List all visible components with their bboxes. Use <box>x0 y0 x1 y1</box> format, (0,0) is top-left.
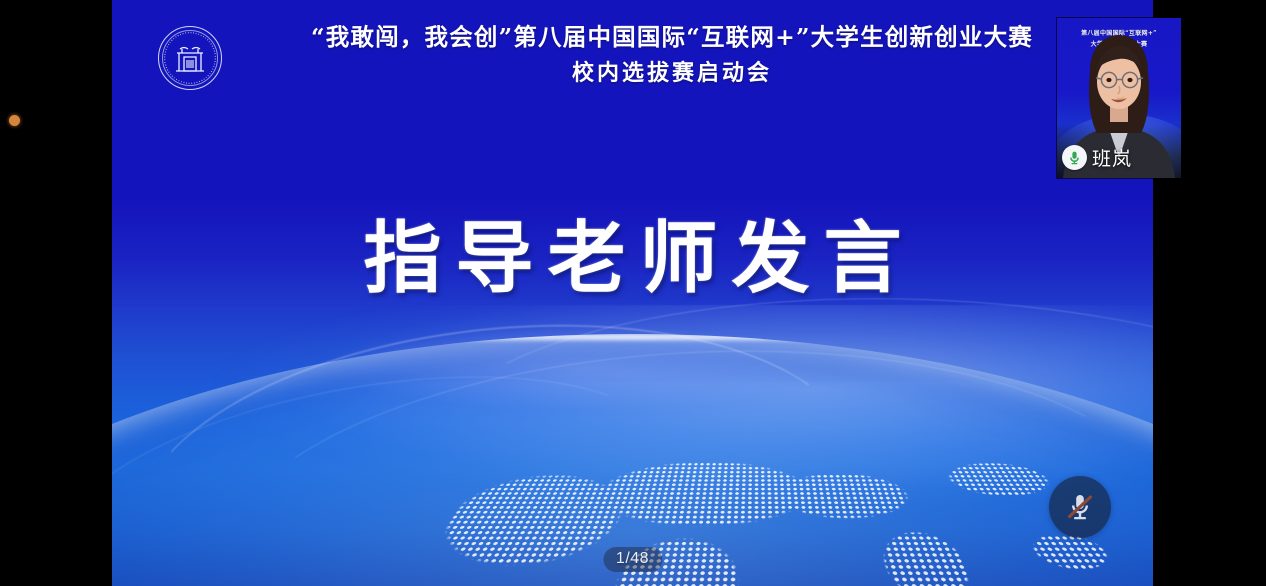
shared-slide[interactable]: “我敢闯，我会创”第八届中国国际“互联网+”大学生创新创业大赛 校内选拔赛启动会… <box>112 0 1153 586</box>
page-indicator: 1/48 <box>603 547 662 572</box>
slide-header-text: “我敢闯，我会创”第八届中国国际“互联网+”大学生创新创业大赛 校内选拔赛启动会 <box>252 22 1092 90</box>
participant-video-tile[interactable]: 第八届中国国际“互联网+” 大学生创新创业大赛 校内选拔赛启动会 <box>1057 18 1181 178</box>
university-seal-icon <box>158 26 222 90</box>
pointer-dot <box>9 115 20 126</box>
participant-webcam-image <box>1057 18 1181 178</box>
slide-header: “我敢闯，我会创”第八届中国国际“互联网+”大学生创新创业大赛 校内选拔赛启动会 <box>112 0 1153 118</box>
gate-tower-glyph <box>174 44 206 74</box>
mute-indicator-button[interactable] <box>1049 476 1111 538</box>
slide-headline: 指导老师发言 <box>112 196 1153 308</box>
microphone-muted-icon <box>1063 490 1097 524</box>
slide-title-line-2: 校内选拔赛启动会 <box>252 57 1092 90</box>
slide-title-line-1: “我敢闯，我会创”第八届中国国际“互联网+”大学生创新创业大赛 <box>252 22 1092 54</box>
screen-share-stage: “我敢闯，我会创”第八届中国国际“互联网+”大学生创新创业大赛 校内选拔赛启动会… <box>0 0 1266 586</box>
